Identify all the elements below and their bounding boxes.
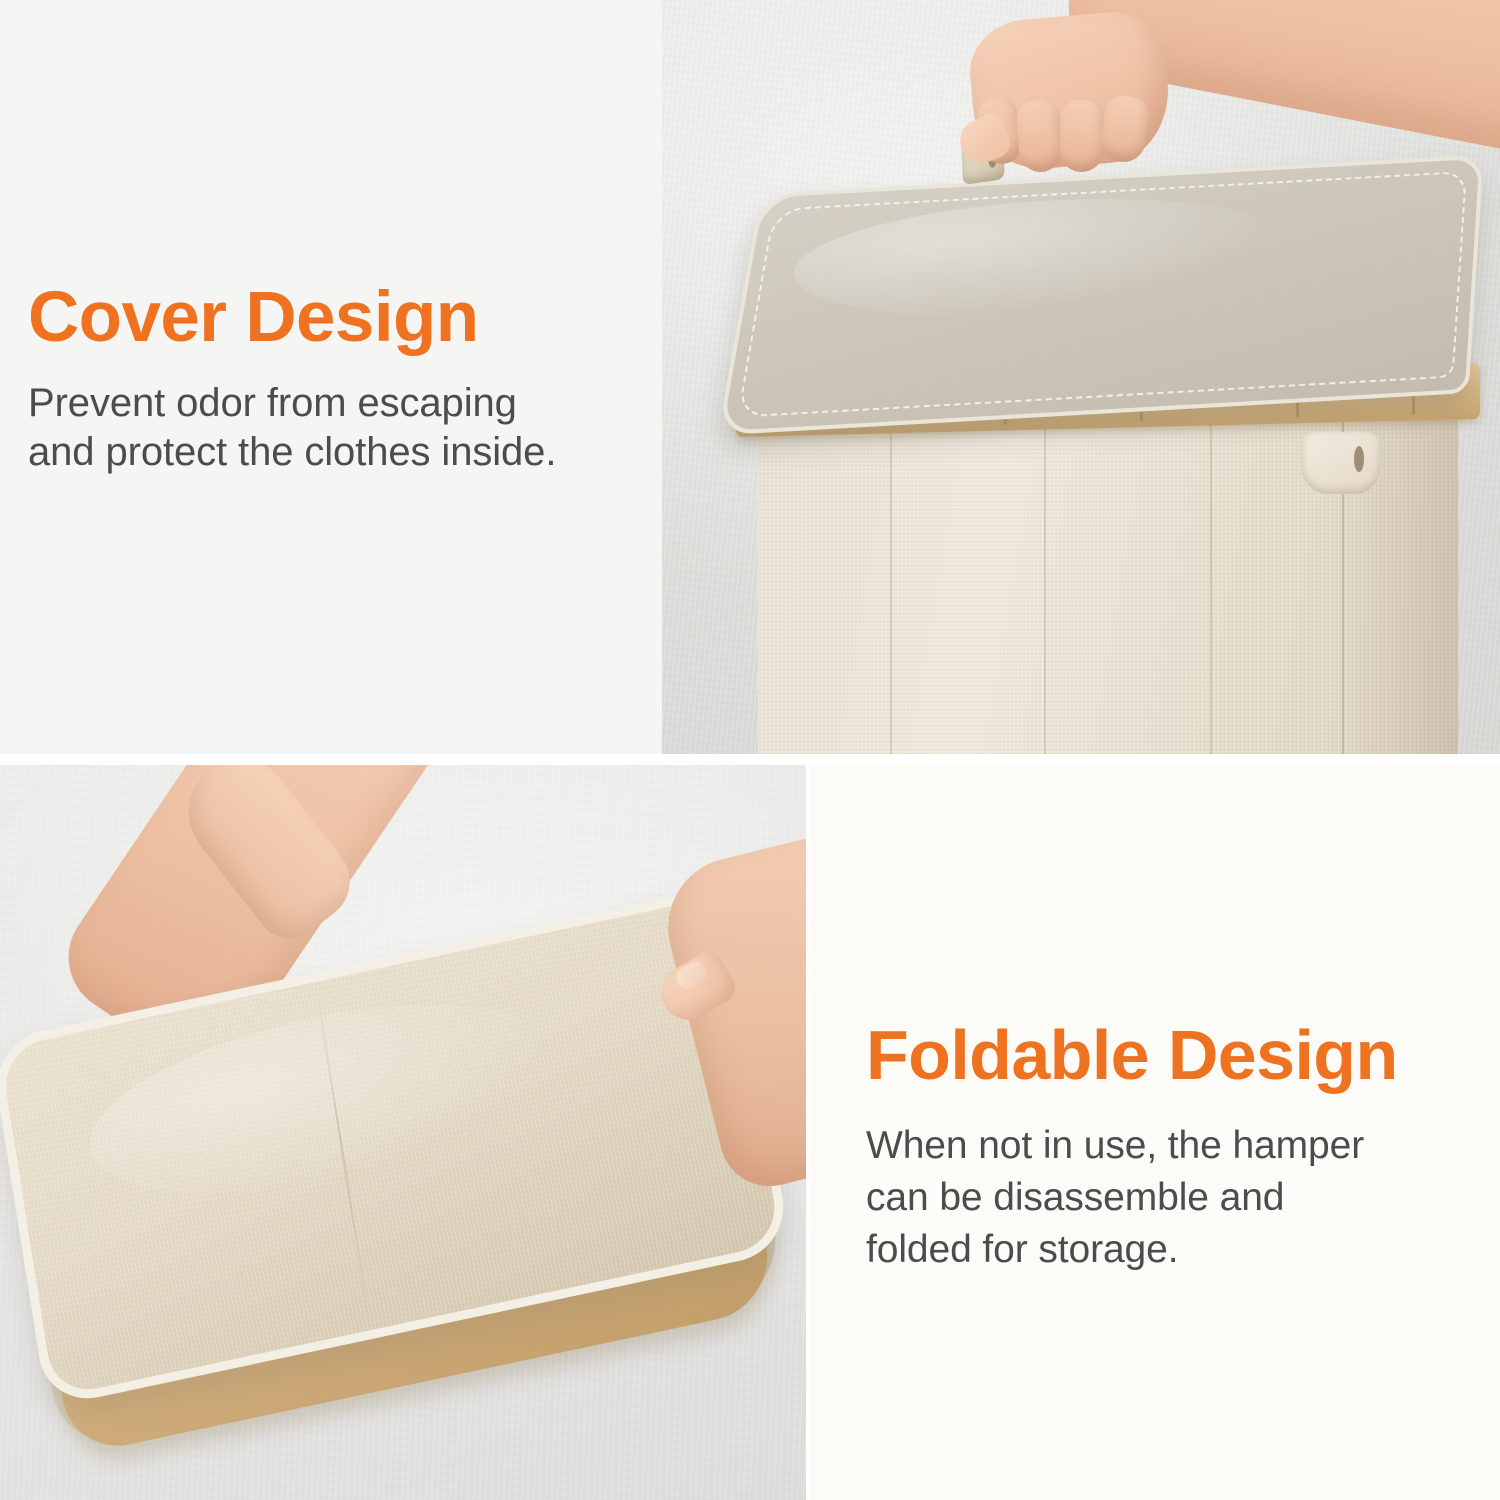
cover-design-body-line-1: Prevent odor from escaping [28, 379, 648, 428]
cover-design-body: Prevent odor from escaping and protect t… [28, 379, 648, 477]
foldable-design-body: When not in use, the hamper can be disas… [866, 1120, 1466, 1276]
photo-folded-flat [0, 765, 806, 1500]
side-cutout-handle-icon [1302, 432, 1380, 494]
finger [1016, 99, 1064, 174]
panel-cover-design: Cover Design Prevent odor from escaping … [0, 0, 662, 754]
fabric-crease [890, 418, 892, 754]
cover-design-headline: Cover Design [28, 282, 648, 353]
photo-lid-lift [662, 0, 1500, 754]
foldable-design-headline: Foldable Design [866, 1020, 1466, 1090]
cover-design-text-block: Cover Design Prevent odor from escaping … [28, 282, 648, 477]
lid-lift-scene [662, 0, 1500, 754]
finger [1059, 99, 1105, 172]
folded-hamper-scene [0, 765, 806, 1500]
foldable-design-body-line-1: When not in use, the hamper [866, 1120, 1466, 1172]
product-feature-infographic: Cover Design Prevent odor from escaping … [0, 0, 1500, 1500]
fabric-crease [1044, 418, 1046, 754]
linen-hamper-body [758, 418, 1458, 754]
padded-lid [718, 155, 1484, 436]
foldable-design-body-line-2: can be disassemble and [866, 1172, 1466, 1224]
cover-design-body-line-2: and protect the clothes inside. [28, 428, 648, 477]
foldable-design-text-block: Foldable Design When not in use, the ham… [866, 1020, 1466, 1276]
foldable-design-body-line-3: folded for storage. [866, 1224, 1466, 1276]
fabric-crease [1210, 418, 1212, 754]
